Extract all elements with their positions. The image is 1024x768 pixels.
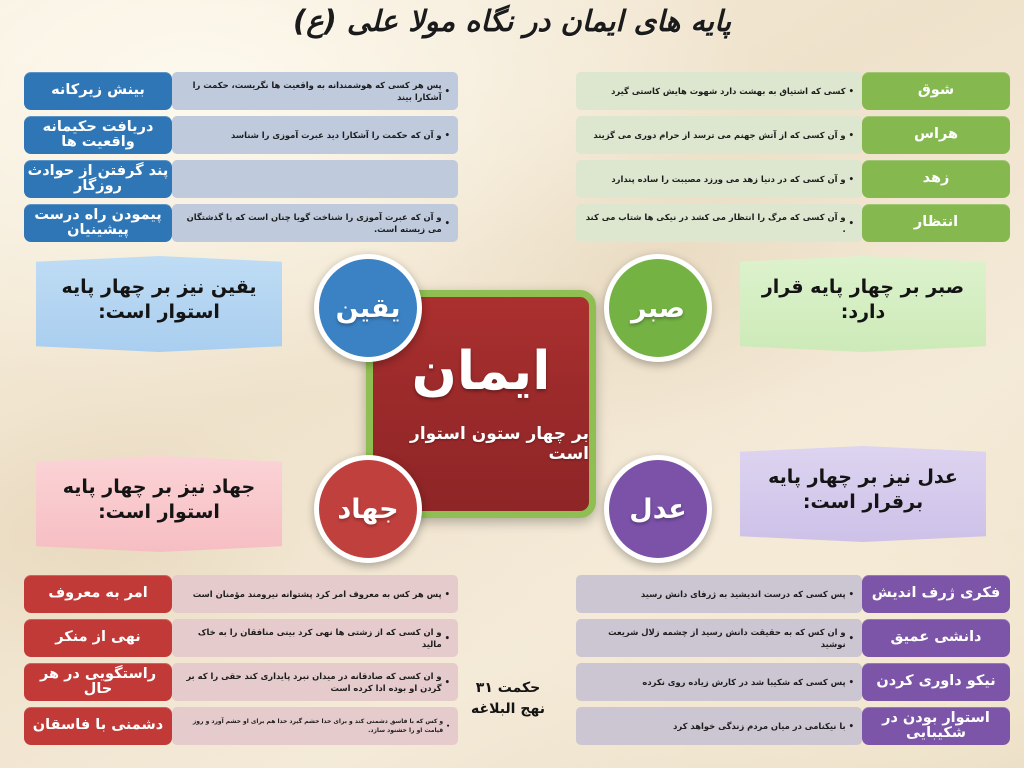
section-adl: فکری ژرف اندیش پس کسی که درست اندیشید به…: [570, 575, 1010, 751]
row-description: با نیکنامی در میان مردم زندگی خواهد کرد: [576, 707, 862, 745]
banner-adl-text: عدل نیز بر چهار پایه برقرار است:: [756, 465, 970, 514]
center-heading: ایمان: [412, 345, 551, 398]
row-description: و آن کسی که از آتش جهنم می ترسد از حرام …: [576, 116, 862, 154]
row-label: شوق: [862, 72, 1010, 110]
table-row: هراس و آن کسی که از آتش جهنم می ترسد از …: [570, 116, 1010, 154]
row-description: پس کسی که درست اندیشید به ژرفای دانش رسی…: [576, 575, 862, 613]
row-label: انتظار: [862, 204, 1010, 242]
row-description: پس هر کس به معروف امر کرد پشتوانه نیرومن…: [172, 575, 458, 613]
row-label: پیمودن راه درست پیشینیان: [24, 204, 172, 242]
row-description: و آن کسی که در دنیا زهد می ورزد مصیبت را…: [576, 160, 862, 198]
banner-yaqin-text: یقین نیز بر چهار پایه استوار است:: [52, 275, 266, 324]
table-row: بینش زیرکانه پس هر کسی که هوشمندانه به و…: [24, 72, 464, 110]
row-label: زهد: [862, 160, 1010, 198]
pillar-label-adl: عدل: [629, 494, 686, 525]
row-description: و ان کسی که از زشتی ها نهی کرد بینی مناف…: [172, 619, 458, 657]
table-row: پیمودن راه درست پیشینیان و آن که عبرت آم…: [24, 204, 464, 242]
table-row: شوق کسی که اشتیاق به بهشت دارد شهوت هایش…: [570, 72, 1010, 110]
table-row: دشمنی با فاسقان و کس که با فاسق دشمنی کن…: [24, 707, 464, 745]
row-description: [172, 160, 458, 198]
row-label: نیکو داوری کردن: [862, 663, 1010, 701]
banner-sabr-text: صبر بر چهار پایه قرار دارد:: [756, 275, 970, 324]
row-label: دریافت حکیمانه واقعیت ها: [24, 116, 172, 154]
row-label: پند گرفتن از حوادث روزگار: [24, 160, 172, 198]
center-subheading: بر چهار ستون استوار است: [373, 424, 589, 464]
row-label: امر به معروف: [24, 575, 172, 613]
row-label: راستگویی در هر حال: [24, 663, 172, 701]
table-row: انتظار و آن کسی که مرگ را انتظار می کشد …: [570, 204, 1010, 242]
table-row: استوار بودن در شکیبایی با نیکنامی در میا…: [570, 707, 1010, 745]
source-line-2: نهج البلاغه: [438, 699, 578, 720]
table-row: پند گرفتن از حوادث روزگار: [24, 160, 464, 198]
table-row: زهد و آن کسی که در دنیا زهد می ورزد مصیب…: [570, 160, 1010, 198]
source-line-1: حکمت ۳۱: [438, 678, 578, 699]
banner-jihad-text: جهاد نیز بر چهار پایه استوار است:: [52, 475, 266, 524]
pillar-label-yaqin: یقین: [336, 293, 401, 324]
pillar-circle-adl: عدل: [604, 455, 712, 563]
row-description: پس هر کسی که هوشمندانه به واقعیت ها نگری…: [172, 72, 458, 110]
source-citation: حکمت ۳۱ نهج البلاغه: [438, 678, 578, 720]
section-jihad: امر به معروف پس هر کس به معروف امر کرد پ…: [24, 575, 464, 751]
page-title: پایه های ایمان در نگاه مولا علی (ع): [0, 4, 1024, 38]
row-description: و آن که عبرت آموزی را شناخت گویا چنان اس…: [172, 204, 458, 242]
table-row: دریافت حکیمانه واقعیت ها و آن که حکمت را…: [24, 116, 464, 154]
infographic-canvas: پایه های ایمان در نگاه مولا علی (ع) شوق …: [0, 0, 1024, 768]
row-description: و ان کس که به حقیقت دانش رسید از چشمه زل…: [576, 619, 862, 657]
table-row: امر به معروف پس هر کس به معروف امر کرد پ…: [24, 575, 464, 613]
banner-jihad: جهاد نیز بر چهار پایه استوار است:: [36, 456, 282, 552]
row-description: و کس که با فاسق دشمنی کند و برای خدا خشم…: [172, 707, 458, 745]
row-description: پس کسی که شکیبا شد در کارش زیاده روی نکر…: [576, 663, 862, 701]
row-description: کسی که اشتیاق به بهشت دارد شهوت هایش کاس…: [576, 72, 862, 110]
pillar-circle-yaqin: یقین: [314, 254, 422, 362]
table-row: فکری ژرف اندیش پس کسی که درست اندیشید به…: [570, 575, 1010, 613]
row-description: و آن کسی که مرگ را انتظار می کشد در نیکی…: [576, 204, 862, 242]
row-label: فکری ژرف اندیش: [862, 575, 1010, 613]
table-row: دانشی عمیق و ان کس که به حقیقت دانش رسید…: [570, 619, 1010, 657]
row-label: نهی از منکر: [24, 619, 172, 657]
banner-sabr: صبر بر چهار پایه قرار دارد:: [740, 256, 986, 352]
table-row: راستگویی در هر حال و ان کسی که صادقانه د…: [24, 663, 464, 701]
row-label: بینش زیرکانه: [24, 72, 172, 110]
row-description: و ان کسی که صادقانه در میدان نبرد پایدار…: [172, 663, 458, 701]
row-label: دشمنی با فاسقان: [24, 707, 172, 745]
table-row: نهی از منکر و ان کسی که از زشتی ها نهی ک…: [24, 619, 464, 657]
row-description: و آن که حکمت را آشکارا دید عبرت آموزی را…: [172, 116, 458, 154]
row-label: هراس: [862, 116, 1010, 154]
pillar-circle-jihad: جهاد: [314, 455, 422, 563]
pillar-label-jihad: جهاد: [337, 494, 398, 525]
pillar-label-sabr: صبر: [631, 293, 685, 324]
table-row: نیکو داوری کردن پس کسی که شکیبا شد در کا…: [570, 663, 1010, 701]
row-label: دانشی عمیق: [862, 619, 1010, 657]
banner-yaqin: یقین نیز بر چهار پایه استوار است:: [36, 256, 282, 352]
pillar-circle-sabr: صبر: [604, 254, 712, 362]
banner-adl: عدل نیز بر چهار پایه برقرار است:: [740, 446, 986, 542]
section-yaqin: بینش زیرکانه پس هر کسی که هوشمندانه به و…: [24, 72, 464, 248]
section-sabr: شوق کسی که اشتیاق به بهشت دارد شهوت هایش…: [570, 72, 1010, 248]
row-label: استوار بودن در شکیبایی: [862, 707, 1010, 745]
